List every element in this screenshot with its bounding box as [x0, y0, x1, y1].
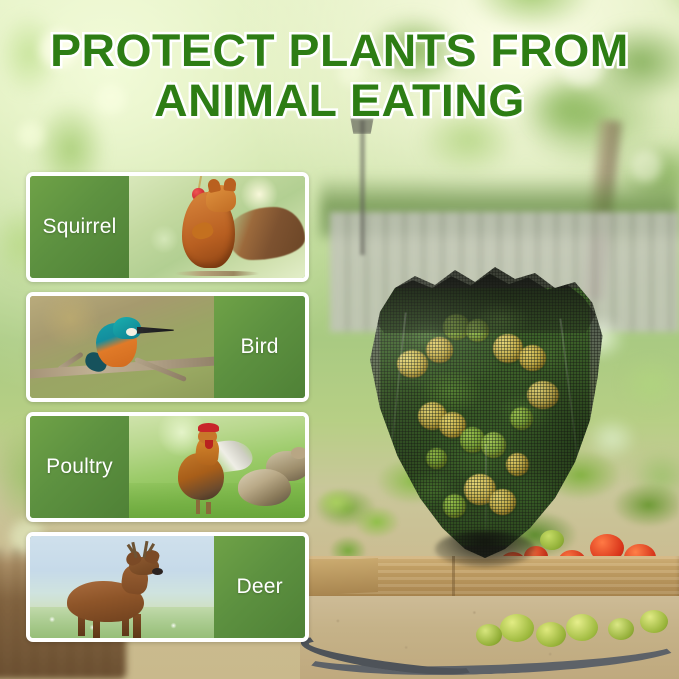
hen-foreground — [238, 469, 291, 506]
rooster-leg — [206, 502, 210, 514]
tomato-fruit — [510, 407, 533, 430]
squirrel-ear — [223, 177, 237, 191]
marketing-image-canvas: PROTECT PLANTS FROM ANIMAL EATING Squirr… — [0, 0, 679, 679]
animal-card-bird[interactable]: Bird — [26, 292, 309, 402]
rooster-comb — [198, 423, 219, 432]
deer-photo — [30, 536, 214, 638]
deer-leg — [133, 614, 140, 638]
animal-card-label: Poultry — [46, 455, 113, 479]
hen-head — [291, 447, 305, 459]
animal-card-label: Squirrel — [43, 215, 117, 239]
animal-card-label: Bird — [241, 335, 279, 359]
card-label-panel: Squirrel — [30, 176, 129, 278]
rooster-wattle — [205, 440, 214, 448]
mesh-bag-bottom-cinch — [435, 531, 535, 567]
tomato-fruit — [519, 345, 546, 371]
bokeh-highlight — [18, 122, 44, 148]
bokeh-highlight — [560, 42, 604, 86]
tomato-fruit — [426, 448, 447, 469]
tomato-fruit — [489, 489, 516, 515]
poultry-photo — [129, 416, 305, 518]
raised-garden-bed-rail-left — [300, 558, 378, 596]
tomato-fruit — [506, 453, 529, 476]
card-label-panel: Deer — [214, 536, 305, 638]
animal-card-label: Deer — [236, 575, 282, 599]
kingfisher-beak — [137, 327, 174, 334]
card-label-panel: Bird — [214, 296, 305, 398]
tomato-fruit — [443, 494, 466, 517]
bokeh-highlight — [630, 150, 662, 182]
squirrel-photo — [129, 176, 305, 278]
mesh-bag-body — [360, 258, 610, 558]
tomato-fruit — [527, 381, 559, 409]
tomato-fruit — [426, 337, 453, 363]
bokeh-highlight — [338, 60, 364, 86]
squirrel-perch — [175, 271, 259, 276]
bokeh-highlight — [96, 84, 126, 114]
animal-card-poultry[interactable]: Poultry — [26, 412, 309, 522]
card-label-panel: Poultry — [30, 416, 129, 518]
mesh-bag-top-rim — [365, 267, 605, 333]
bokeh-highlight — [40, 30, 78, 68]
lamp-post-pole — [360, 120, 365, 255]
animal-card-list: Squirrel Bird — [26, 172, 309, 642]
product-mesh-plant-cover — [360, 258, 610, 558]
deer-nose — [152, 568, 163, 575]
animal-card-squirrel[interactable]: Squirrel — [26, 172, 309, 282]
bird-photo — [30, 296, 214, 398]
squirrel-tail — [228, 207, 305, 260]
animal-card-deer[interactable]: Deer — [26, 532, 309, 642]
rooster-leg — [196, 500, 200, 514]
kingfisher-cheek-patch — [126, 328, 137, 336]
